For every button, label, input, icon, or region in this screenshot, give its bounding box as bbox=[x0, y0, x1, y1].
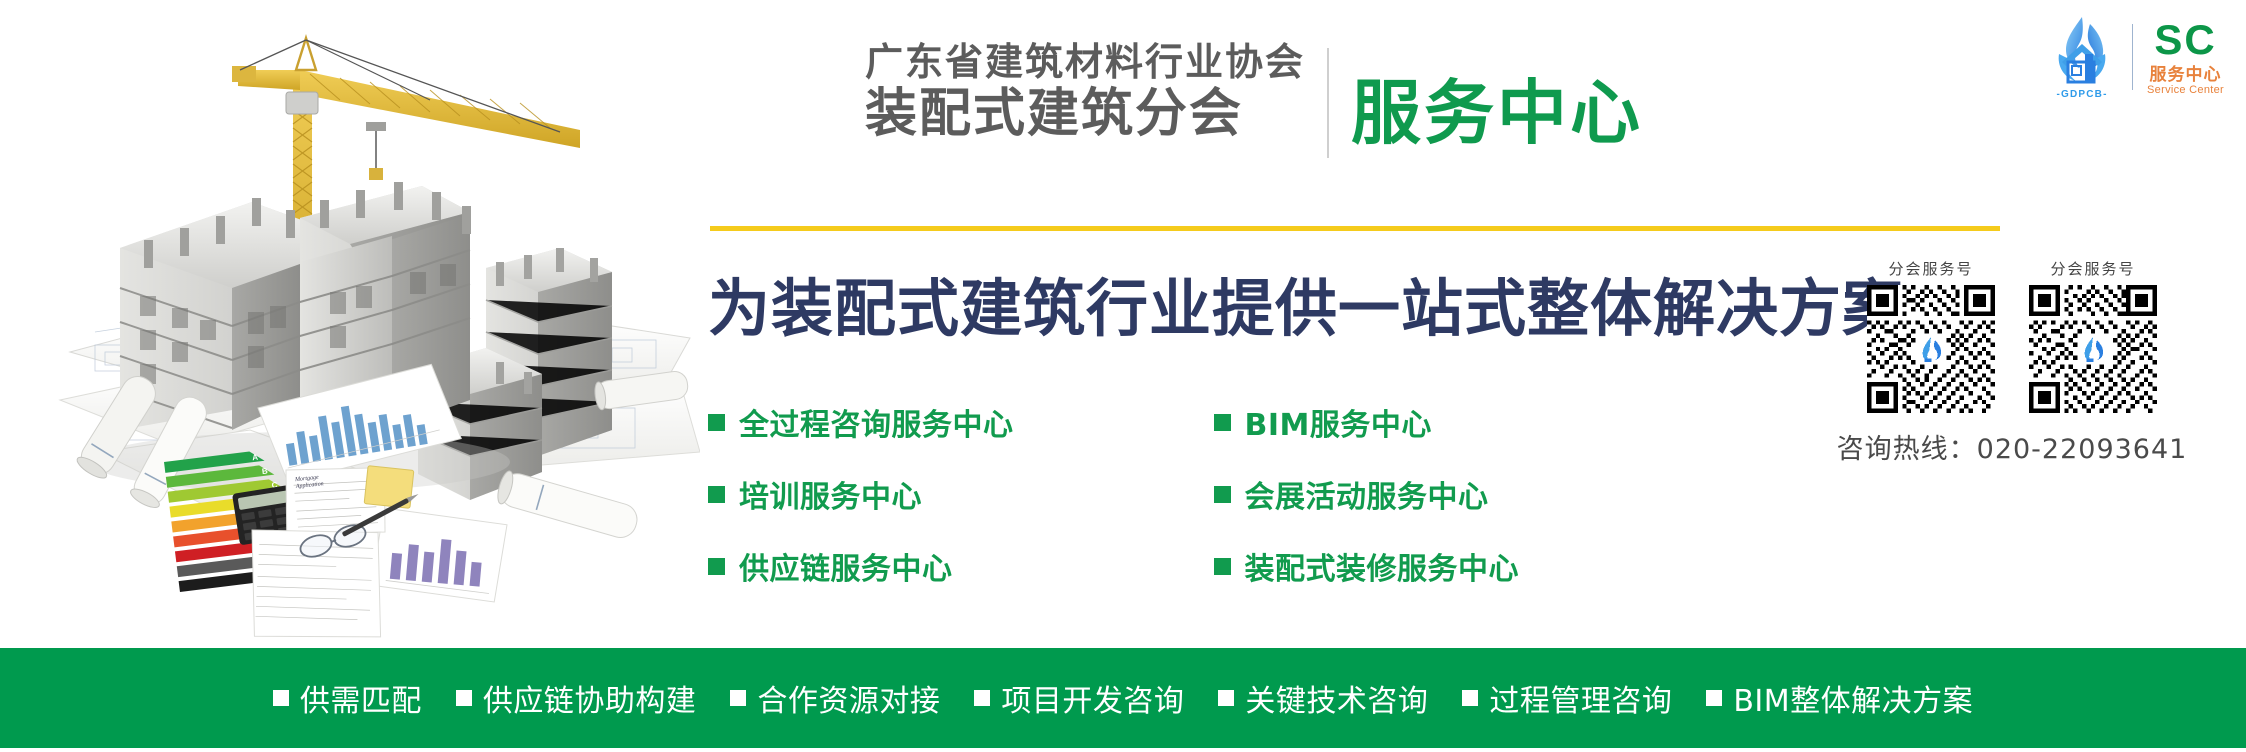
qr-contact-block: 分会服务号 bbox=[1802, 258, 2222, 466]
blue-flame-house-icon bbox=[2046, 14, 2118, 86]
sc-abbr: SC bbox=[2147, 19, 2224, 61]
sc-logo: SC 服务中心 Service Center bbox=[2147, 19, 2224, 96]
service-item[interactable]: 全过程咨询服务中心 bbox=[708, 400, 1014, 444]
footer-item-label: 供需匹配 bbox=[300, 676, 422, 720]
sc-english-label: Service Center bbox=[2147, 85, 2224, 96]
gdpcb-logo-mark: -GDPCB- bbox=[2046, 14, 2118, 100]
footer-item[interactable]: 项目开发咨询 bbox=[974, 676, 1184, 720]
service-item[interactable]: 会展活动服务中心 bbox=[1214, 472, 1520, 516]
footer-item-label: 过程管理咨询 bbox=[1489, 676, 1672, 720]
service-column-right: BIM服务中心 会展活动服务中心 装配式装修服务中心 bbox=[1214, 400, 1520, 588]
brand-logo: -GDPCB- SC 服务中心 Service Center bbox=[2046, 14, 2224, 100]
footer-item[interactable]: 供需匹配 bbox=[273, 676, 422, 720]
square-bullet-icon bbox=[1218, 690, 1234, 706]
content-panel: -GDPCB- SC 服务中心 Service Center 广东省建筑材料行业… bbox=[700, 0, 2246, 648]
qr-code-icon[interactable] bbox=[2029, 285, 2157, 413]
qr-code-cell[interactable]: 分会服务号 bbox=[1867, 258, 1995, 413]
service-item[interactable]: 供应链服务中心 bbox=[708, 544, 1014, 588]
qr-code-row: 分会服务号 bbox=[1802, 258, 2222, 413]
service-item-label: 培训服务中心 bbox=[739, 472, 922, 516]
footer-item[interactable]: 过程管理咨询 bbox=[1462, 676, 1672, 720]
service-center-list: 全过程咨询服务中心 培训服务中心 供应链服务中心 BIM服务中心 会展活动服务中… bbox=[708, 400, 1519, 588]
hotline-text: 咨询热线：020-22093641 bbox=[1802, 427, 2222, 466]
qr-code-cell[interactable]: 分会服务号 bbox=[2029, 258, 2157, 413]
hero-image: ABC DEF GHI bbox=[0, 0, 700, 648]
association-title-block: 广东省建筑材料行业协会 装配式建筑分会 服务中心 bbox=[865, 43, 1643, 158]
square-bullet-icon bbox=[1214, 486, 1231, 503]
association-name-line1: 广东省建筑材料行业协会 bbox=[865, 43, 1305, 81]
service-center-title: 服务中心 bbox=[1351, 57, 1643, 158]
yellow-divider-rule bbox=[710, 226, 2000, 231]
footer-item[interactable]: BIM整体解决方案 bbox=[1706, 676, 1973, 720]
footer-bottom-strip bbox=[0, 748, 2246, 752]
service-item-label: 供应链服务中心 bbox=[739, 544, 953, 588]
footer-item-label: BIM整体解决方案 bbox=[1733, 676, 1973, 720]
footer-item[interactable]: 关键技术咨询 bbox=[1218, 676, 1428, 720]
qr-caption: 分会服务号 bbox=[2029, 258, 2157, 279]
square-bullet-icon bbox=[456, 690, 472, 706]
service-item-label: 装配式装修服务中心 bbox=[1245, 544, 1520, 588]
square-bullet-icon bbox=[974, 690, 990, 706]
service-item-label: 会展活动服务中心 bbox=[1245, 472, 1489, 516]
association-name-line2: 装配式建筑分会 bbox=[865, 88, 1305, 140]
service-item[interactable]: BIM服务中心 bbox=[1214, 400, 1520, 444]
footer-service-bar: 供需匹配 供应链协助构建 合作资源对接 项目开发咨询 关键技术咨询 过程管理咨询… bbox=[0, 648, 2246, 748]
square-bullet-icon bbox=[1462, 690, 1478, 706]
footer-item-label: 供应链协助构建 bbox=[483, 676, 697, 720]
service-item-label: 全过程咨询服务中心 bbox=[739, 400, 1014, 444]
square-bullet-icon bbox=[1706, 690, 1722, 706]
footer-item[interactable]: 供应链协助构建 bbox=[456, 676, 697, 720]
footer-item-label: 合作资源对接 bbox=[757, 676, 940, 720]
square-bullet-icon bbox=[708, 486, 725, 503]
service-item[interactable]: 装配式装修服务中心 bbox=[1214, 544, 1520, 588]
service-item-label: BIM服务中心 bbox=[1245, 400, 1432, 444]
square-bullet-icon bbox=[1214, 414, 1231, 431]
square-bullet-icon bbox=[1214, 558, 1231, 575]
square-bullet-icon bbox=[708, 558, 725, 575]
footer-item[interactable]: 合作资源对接 bbox=[730, 676, 940, 720]
square-bullet-icon bbox=[708, 414, 725, 431]
construction-scene-illustration: ABC DEF GHI bbox=[0, 0, 700, 648]
association-names: 广东省建筑材料行业协会 装配式建筑分会 bbox=[865, 43, 1305, 140]
title-vertical-divider bbox=[1327, 48, 1329, 158]
service-item[interactable]: 培训服务中心 bbox=[708, 472, 1014, 516]
qr-code-icon[interactable] bbox=[1867, 285, 1995, 413]
gdpcb-mark-text: -GDPCB- bbox=[2046, 89, 2118, 100]
qr-caption: 分会服务号 bbox=[1867, 258, 1995, 279]
square-bullet-icon bbox=[273, 690, 289, 706]
footer-item-label: 关键技术咨询 bbox=[1245, 676, 1428, 720]
main-slogan: 为装配式建筑行业提供一站式整体解决方案 bbox=[708, 258, 1905, 348]
brand-divider bbox=[2132, 24, 2133, 90]
sc-chinese-label: 服务中心 bbox=[2147, 66, 2224, 83]
square-bullet-icon bbox=[730, 690, 746, 706]
service-column-left: 全过程咨询服务中心 培训服务中心 供应链服务中心 bbox=[708, 400, 1014, 588]
footer-item-label: 项目开发咨询 bbox=[1001, 676, 1184, 720]
bar-chart-document-purple bbox=[371, 507, 508, 602]
